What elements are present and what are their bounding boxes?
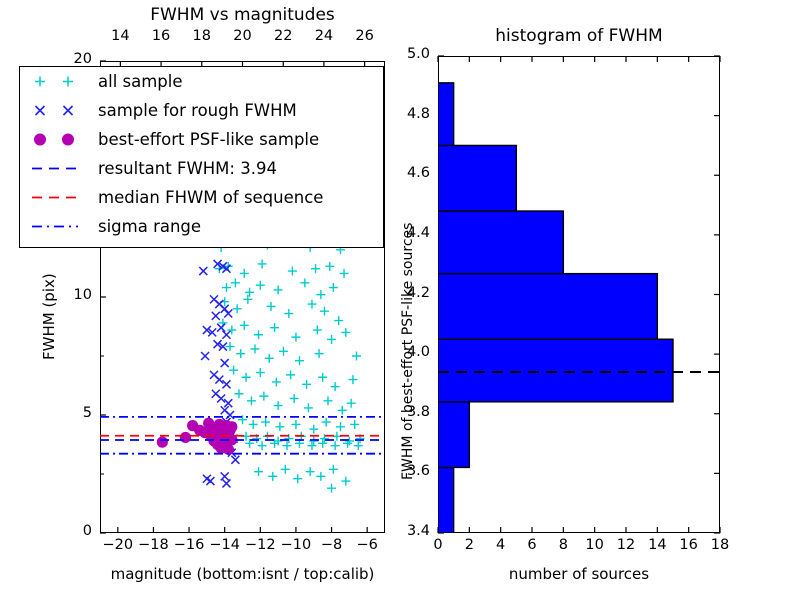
legend-item: sample for rough FWHM bbox=[20, 96, 383, 125]
legend-item: all sample bbox=[20, 67, 383, 96]
legend-item-label: sample for rough FWHM bbox=[98, 101, 297, 120]
legend-item: best-effort PSF-like sample bbox=[20, 125, 383, 154]
legend-item: sigma range bbox=[20, 212, 383, 241]
legend-circle-icon bbox=[20, 125, 98, 154]
right-ylabel: FWHM of best-effort PSF-like sources bbox=[400, 223, 416, 480]
legend-dashed-line-icon bbox=[20, 183, 98, 212]
legend-dashed-line-icon bbox=[20, 154, 98, 183]
legend-dashdot-line-icon bbox=[20, 212, 98, 241]
legend-item-label: best-effort PSF-like sample bbox=[98, 130, 319, 149]
legend-item: median FHWM of sequence bbox=[20, 183, 383, 212]
legend-item-label: all sample bbox=[98, 72, 183, 91]
legend-item-label: sigma range bbox=[98, 217, 201, 236]
legend-plus-icon bbox=[20, 67, 98, 96]
legend-box: all samplesample for rough FWHMbest-effo… bbox=[19, 66, 384, 248]
figure-canvas: FWHM vs magnitudes 14161820222426 −20−18… bbox=[0, 0, 800, 600]
legend-item: resultant FWHM: 3.94 bbox=[20, 154, 383, 183]
right-xlabel: number of sources bbox=[438, 565, 720, 583]
legend-cross-icon bbox=[20, 96, 98, 125]
legend-item-label: resultant FWHM: 3.94 bbox=[98, 159, 277, 178]
legend-item-label: median FHWM of sequence bbox=[98, 188, 323, 207]
